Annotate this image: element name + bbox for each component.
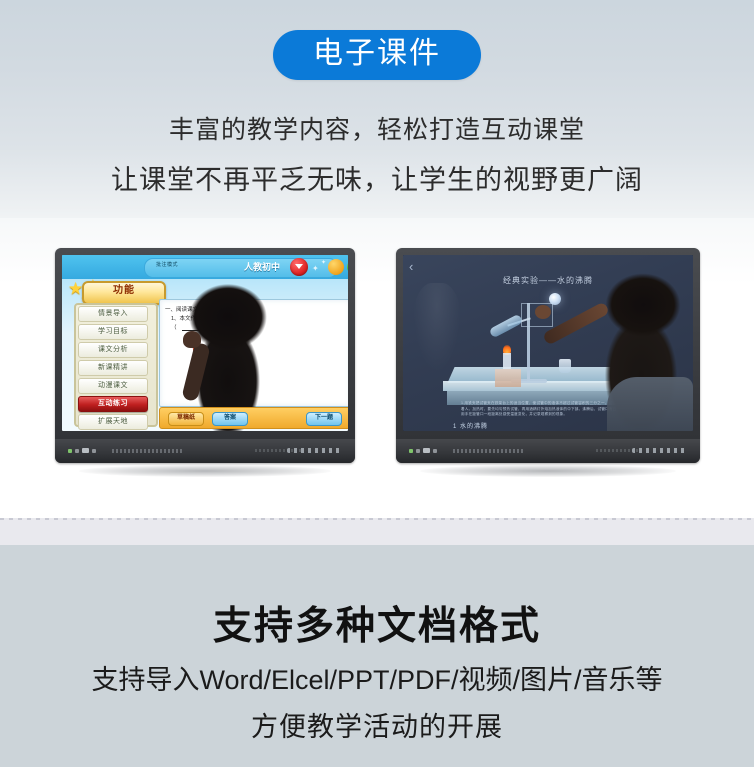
answer-button[interactable]: 答案 — [212, 412, 248, 426]
menu-item[interactable]: 学习目标 — [78, 324, 148, 340]
alcohol-burner — [503, 353, 511, 369]
display-chin-bar — [55, 439, 355, 463]
courseware-title-plate: 功能 — [82, 281, 166, 305]
interactive-display-right: ‹ 经典实验——水的沸腾 — [396, 248, 700, 463]
menu-item[interactable]: 情景导入 — [78, 306, 148, 322]
hero-tagline-1: 丰富的教学内容，轻松打造互动课堂 — [0, 110, 754, 146]
test-tube — [489, 314, 524, 339]
brand-logo — [112, 449, 182, 453]
experiment-footer-label: 1 水的沸腾 — [453, 421, 488, 430]
volume-icon[interactable] — [347, 259, 348, 275]
sparkle-icon: ✦ — [312, 264, 319, 273]
courseware-menu: 情景导入 学习目标 课文分析 新课精讲 动漫课文 互动练习 扩展天地 — [78, 306, 148, 431]
textbook-label: 人教初中 — [244, 260, 280, 273]
formats-subtitle-2: 方便教学活动的开展 — [0, 705, 754, 744]
draft-paper-button[interactable]: 草稿纸 — [168, 412, 204, 426]
section-badge: 电子课件 — [273, 30, 481, 80]
speaker-grille — [632, 448, 686, 453]
student-shirt — [607, 377, 693, 431]
menu-item[interactable]: 动漫课文 — [78, 378, 148, 394]
divider-dashed-line — [0, 518, 754, 520]
display-chin-bar — [396, 439, 700, 463]
record-icon[interactable] — [290, 258, 308, 276]
interactive-display-left: 批注模式 人教初中 ✦ ✦ ★★★ 功能 — [55, 248, 355, 463]
formats-section: 支持多种文档格式 支持导入Word/Elcel/PPT/PDF/视频/图片/音乐… — [0, 545, 754, 767]
menu-item[interactable]: 新课精讲 — [78, 360, 148, 376]
menu-item[interactable]: 扩展天地 — [78, 414, 148, 430]
sparkle-icon: ✦ — [321, 259, 326, 266]
annotation-mode-label: 批注模式 — [156, 261, 178, 268]
courseware-action-bar: 草稿纸 答案 下一题 — [159, 407, 348, 429]
background-silhouette — [413, 283, 461, 373]
wooden-block — [495, 369, 521, 387]
display-bezel: ‹ 经典实验——水的沸腾 — [396, 248, 700, 463]
divider-white — [0, 500, 754, 518]
download-icon[interactable] — [328, 259, 344, 275]
device-shadow — [79, 465, 331, 477]
hero-section: 电子课件 丰富的教学内容，轻松打造互动课堂 让课堂不再平乏无味，让学生的视野更广… — [0, 0, 754, 240]
promo-page: 电子课件 丰富的教学内容，轻松打造互动课堂 让课堂不再平乏无味，让学生的视野更广… — [0, 0, 754, 767]
courseware-title-text: 功能 — [84, 283, 164, 299]
courseware-topbar: 批注模式 人教初中 ✦ ✦ — [62, 255, 348, 279]
display-screen-courseware: 批注模式 人教初中 ✦ ✦ ★★★ 功能 — [62, 255, 348, 431]
display-bezel: 批注模式 人教初中 ✦ ✦ ★★★ 功能 — [55, 248, 355, 463]
port-indicators — [68, 448, 96, 453]
divider-light — [0, 518, 754, 545]
device-shadow — [420, 465, 675, 477]
screens-section: 批注模式 人教初中 ✦ ✦ ★★★ 功能 — [0, 218, 754, 520]
menu-item[interactable]: 课文分析 — [78, 342, 148, 358]
formats-title: 支持多种文档格式 — [0, 595, 754, 651]
display-screen-experiment: ‹ 经典实验——水的沸腾 — [403, 255, 693, 431]
chevron-left-icon[interactable]: ‹ — [409, 260, 413, 273]
next-question-button[interactable]: 下一题 — [306, 412, 342, 426]
formats-subtitle-1: 支持导入Word/Elcel/PPT/PDF/视频/图片/音乐等 — [0, 658, 754, 697]
menu-item-active[interactable]: 互动练习 — [78, 396, 148, 412]
brand-logo — [453, 449, 523, 453]
ring-stand-rod — [527, 303, 530, 381]
speaker-grille — [287, 448, 341, 453]
port-indicators — [409, 448, 437, 453]
hero-tagline-2: 让课堂不再平乏无味，让学生的视野更广阔 — [0, 158, 754, 197]
beaker — [559, 359, 571, 373]
